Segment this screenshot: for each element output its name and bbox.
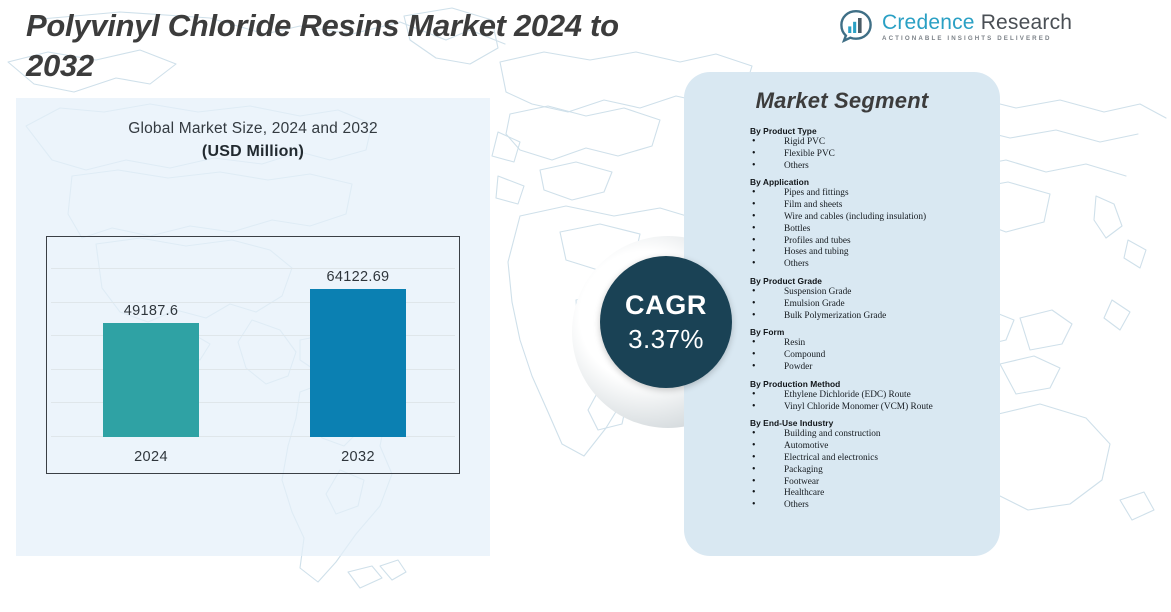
bar-2032 [310, 289, 406, 437]
bullet-icon: • [752, 199, 756, 211]
segment-list-item-label: Powder [784, 362, 812, 372]
bullet-icon: • [752, 148, 756, 160]
bullet-icon: • [752, 476, 756, 488]
bullet-icon: • [752, 298, 756, 310]
bar-value-label-2032: 64122.69 [270, 269, 446, 285]
bullet-icon: • [752, 428, 756, 440]
segment-list-item: •Resin [750, 338, 992, 350]
bar-2024 [103, 323, 199, 437]
segment-group-heading: By Product Grade [750, 276, 992, 286]
segment-group-heading: By Production Method [750, 379, 992, 389]
cagr-value: 3.37% [628, 326, 704, 352]
logo-name-secondary: Research [975, 11, 1073, 34]
segment-list-item: •Building and construction [750, 429, 992, 441]
segment-list-item: •Healthcare [750, 488, 992, 500]
logo-tagline: Actionable Insights Delivered [882, 36, 1072, 42]
brand-logo: Credence Research Actionable Insights De… [838, 9, 1072, 45]
segment-list-item: •Powder [750, 362, 992, 374]
segment-list-item-label: Healthcare [784, 488, 824, 498]
bar-value-label-2024: 49187.6 [63, 303, 239, 319]
segment-list-item: •Rigid PVC [750, 137, 992, 149]
bullet-icon: • [752, 310, 756, 322]
bullet-icon: • [752, 401, 756, 413]
segment-list-item: •Compound [750, 350, 992, 362]
segment-list-item: •Film and sheets [750, 200, 992, 212]
segment-group-heading: By Application [750, 177, 992, 187]
segment-list-item: •Pipes and fittings [750, 188, 992, 200]
bullet-icon: • [752, 337, 756, 349]
segment-list-item-label: Bulk Polymerization Grade [784, 311, 886, 321]
market-segment-title: Market Segment [684, 88, 1000, 114]
segment-list-item: •Bulk Polymerization Grade [750, 311, 992, 323]
segment-list-item: •Hoses and tubing [750, 247, 992, 259]
segment-list-item-label: Suspension Grade [784, 287, 851, 297]
bullet-icon: • [752, 223, 756, 235]
segment-list-item: •Automotive [750, 441, 992, 453]
page-title: Polyvinyl Chloride Resins Market 2024 to… [26, 6, 626, 86]
bullet-icon: • [752, 349, 756, 361]
bullet-icon: • [752, 246, 756, 258]
segment-group-heading: By End-Use Industry [750, 418, 992, 428]
bullet-icon: • [752, 136, 756, 148]
segment-list-item: •Others [750, 259, 992, 271]
segment-list-item: •Emulsion Grade [750, 299, 992, 311]
segment-list-item-label: Others [784, 259, 809, 269]
segment-list-item: •Profiles and tubes [750, 236, 992, 248]
segment-list-item: •Bottles [750, 224, 992, 236]
segment-list-item-label: Compound [784, 350, 825, 360]
segment-list-item-label: Vinyl Chloride Monomer (VCM) Route [784, 402, 933, 412]
bullet-icon: • [752, 487, 756, 499]
segment-list-item: •Footwear [750, 477, 992, 489]
chart-heading: Global Market Size, 2024 and 2032 (USD M… [16, 120, 490, 161]
bullet-icon: • [752, 440, 756, 452]
segment-group-heading: By Form [750, 327, 992, 337]
segment-list-item-label: Wire and cables (including insulation) [784, 212, 926, 222]
bar-category-label-2024: 2024 [63, 449, 239, 465]
segment-list-item-label: Flexible PVC [784, 149, 835, 159]
bullet-icon: • [752, 211, 756, 223]
cagr-label: CAGR [625, 292, 707, 319]
bullet-icon: • [752, 499, 756, 511]
logo-bar-chart-speech-bubble-icon [838, 9, 874, 45]
segment-list-item: •Suspension Grade [750, 287, 992, 299]
segment-list-item: •Vinyl Chloride Monomer (VCM) Route [750, 402, 992, 414]
segment-list-item-label: Rigid PVC [784, 137, 825, 147]
segment-list-item: •Others [750, 161, 992, 173]
segment-list-item-label: Automotive [784, 441, 828, 451]
segment-list-item-label: Resin [784, 338, 805, 348]
segment-list-item: •Others [750, 500, 992, 512]
chart-title: Global Market Size, 2024 and 2032 [16, 120, 490, 138]
bullet-icon: • [752, 389, 756, 401]
segment-list-item-label: Others [784, 161, 809, 171]
bullet-icon: • [752, 187, 756, 199]
segment-list-item: •Ethylene Dichloride (EDC) Route [750, 390, 992, 402]
segment-list-item-label: Pipes and fittings [784, 188, 849, 198]
segment-list-item-label: Bottles [784, 224, 810, 234]
segment-list-item-label: Ethylene Dichloride (EDC) Route [784, 390, 911, 400]
bullet-icon: • [752, 464, 756, 476]
segment-list-item: •Flexible PVC [750, 149, 992, 161]
segment-list-item-label: Profiles and tubes [784, 236, 851, 246]
segment-list-item-label: Packaging [784, 465, 823, 475]
segment-list-item: •Electrical and electronics [750, 453, 992, 465]
segment-group-heading: By Product Type [750, 126, 992, 136]
logo-wordmark: Credence Research [882, 12, 1072, 33]
bar-chart-plot: 49187.6202464122.692032 [46, 236, 460, 474]
bar-category-label-2032: 2032 [270, 449, 446, 465]
segment-list-item-label: Hoses and tubing [784, 247, 849, 257]
bullet-icon: • [752, 160, 756, 172]
segment-list-item-label: Film and sheets [784, 200, 842, 210]
bullet-icon: • [752, 452, 756, 464]
segment-list-item-label: Others [784, 500, 809, 510]
segment-list-item-label: Electrical and electronics [784, 453, 878, 463]
logo-name-primary: Credence [882, 11, 975, 34]
bullet-icon: • [752, 235, 756, 247]
bullet-icon: • [752, 361, 756, 373]
segment-list-item: •Wire and cables (including insulation) [750, 212, 992, 224]
bullet-icon: • [752, 258, 756, 270]
segment-list-item-label: Footwear [784, 477, 819, 487]
segment-list-item: •Packaging [750, 465, 992, 477]
segment-list-item-label: Emulsion Grade [784, 299, 845, 309]
bullet-icon: • [752, 286, 756, 298]
segment-list-item-label: Building and construction [784, 429, 881, 439]
chart-subtitle: (USD Million) [16, 143, 490, 161]
cagr-badge: CAGR 3.37% [600, 256, 732, 388]
